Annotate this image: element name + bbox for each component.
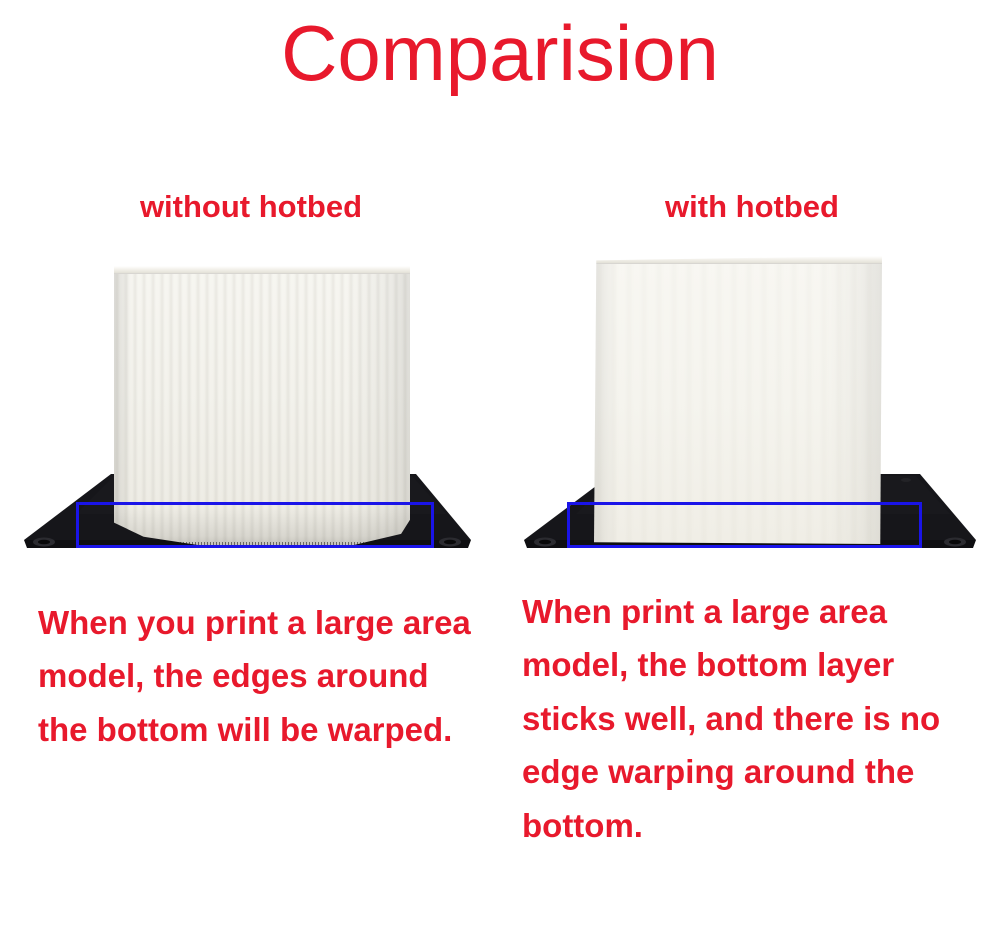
panel-subtitle-with-hotbed: with hotbed xyxy=(512,190,992,234)
block-ridges-left xyxy=(114,266,410,548)
photo-without-hotbed xyxy=(16,248,486,578)
printed-block-flat xyxy=(594,256,882,544)
printed-block-warped xyxy=(114,266,410,548)
caption-with-hotbed: When print a large area model, the botto… xyxy=(522,585,992,852)
panel-subtitle-without-hotbed: without hotbed xyxy=(16,190,486,234)
panel-with-hotbed: with hotbed xyxy=(512,190,992,578)
block-top-edge-right xyxy=(594,256,882,264)
block-top-edge-left xyxy=(114,266,410,274)
panel-without-hotbed: without hotbed xyxy=(16,190,486,578)
block-ridges-right xyxy=(594,256,882,544)
caption-without-hotbed: When you print a large area model, the e… xyxy=(38,596,478,756)
photo-with-hotbed xyxy=(512,248,992,578)
page-title: Comparision xyxy=(0,14,1000,92)
